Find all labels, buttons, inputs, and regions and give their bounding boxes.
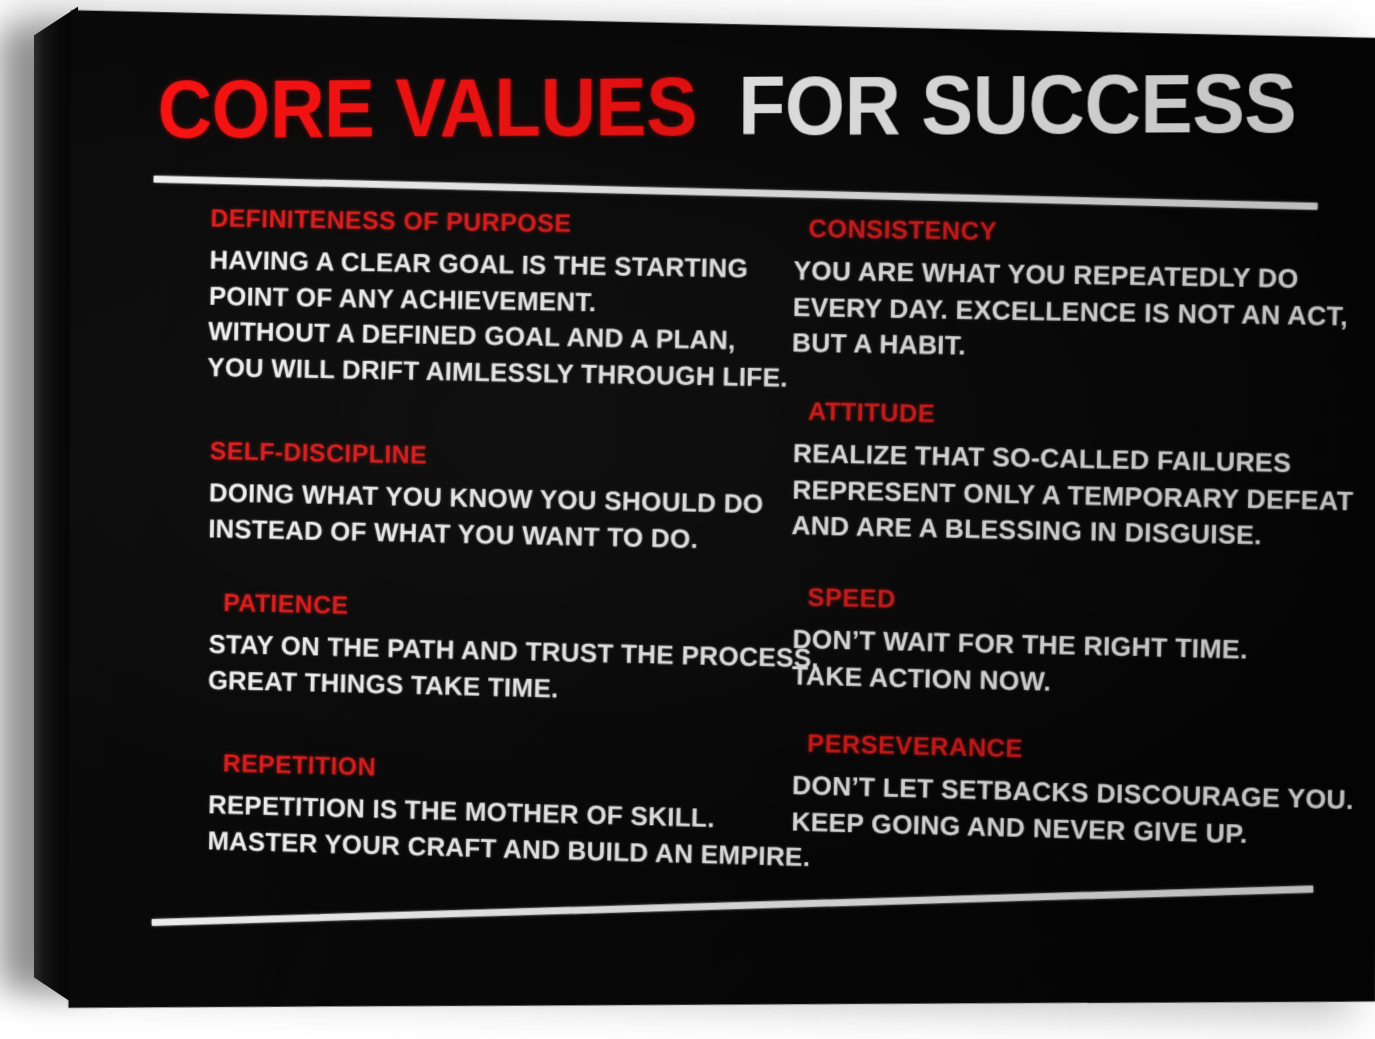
artwork-content: CORE VALUES FOR SUCCESS DEFINITENESS OF … [61,0,1375,1039]
canvas-print-face: CORE VALUES FOR SUCCESS DEFINITENESS OF … [61,0,1375,1039]
value-heading: SELF-DISCIPLINE [210,437,771,477]
value-heading: PERSEVERANCE [807,729,1326,772]
value-heading: ATTITUDE [808,397,1327,436]
value-block-self-discipline: SELF-DISCIPLINEDOING WHAT YOU KNOW YOU S… [208,437,771,559]
value-heading: PATIENCE [223,589,770,631]
title-core-values: CORE VALUES [158,66,698,152]
value-block-perseverance: PERSEVERANCEDON’T LET SETBACKS DISCOURAG… [791,729,1326,854]
value-block-consistency: CONSISTENCYYOU ARE WHAT YOU REPEATEDLY D… [792,215,1328,372]
value-block-attitude: ATTITUDEREALIZE THAT SO-CALLED FAILURESR… [791,397,1327,555]
canvas-scene: CORE VALUES FOR SUCCESS DEFINITENESS OF … [0,0,1375,1027]
value-block-patience: PATIENCESTAY ON THE PATH AND TRUST THE P… [208,589,771,713]
footer-divider-rule [151,885,1313,926]
value-block-speed: SPEEDDON’T WAIT FOR THE RIGHT TIME.TAKE … [791,583,1326,707]
value-block-definiteness-of-purpose: DEFINITENESS OF PURPOSEHAVING A CLEAR GO… [207,204,771,395]
value-heading: SPEED [807,583,1326,624]
title-for-success: FOR SUCCESS [738,62,1296,149]
value-heading: CONSISTENCY [808,215,1327,252]
title-divider-rule [153,176,1317,210]
value-block-repetition: REPETITIONREPETITION IS THE MOTHER OF SK… [207,749,770,874]
page-title: CORE VALUES FOR SUCCESS [158,62,1342,152]
value-heading: REPETITION [223,749,770,793]
value-heading: DEFINITENESS OF PURPOSE [210,204,771,242]
